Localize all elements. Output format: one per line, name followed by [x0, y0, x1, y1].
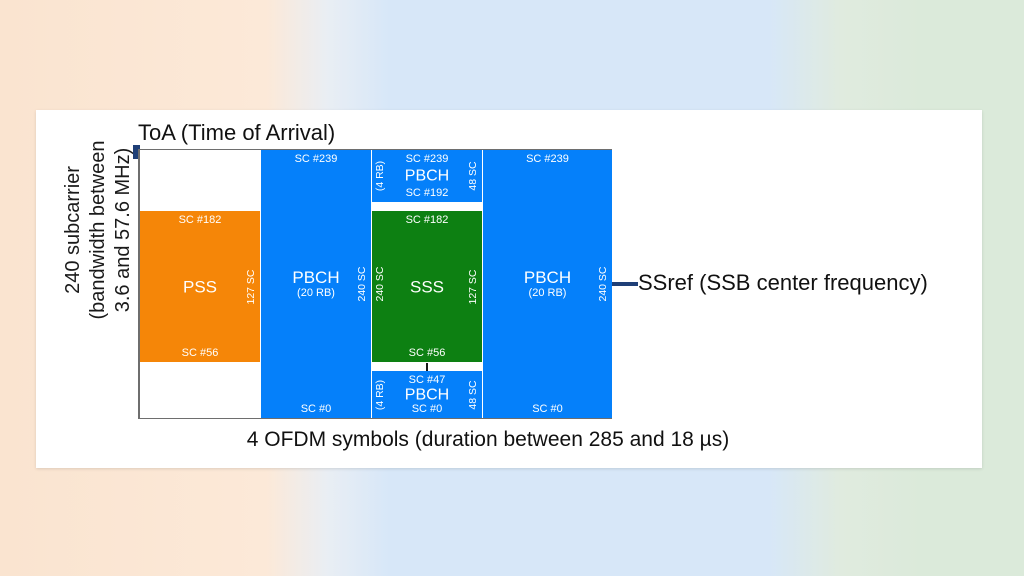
symbol-column-3: SC #239 PBCH (20 RB) 240 SC SC #0 — [483, 150, 612, 418]
pbch-sym1-bottom-sc-label: SC #0 — [261, 403, 371, 415]
empty-gap-upper-sym2 — [372, 202, 482, 211]
sym2-total-sc-count-label: 240 SC — [375, 266, 386, 301]
empty-gap-lower-sym2 — [372, 362, 482, 371]
y-axis-label-line-1: 240 subcarrier — [61, 166, 86, 294]
pbch-sym3-top-sc-label: SC #239 — [483, 153, 612, 165]
figure-card: 240 subcarrier (bandwidth between 3.6 an… — [36, 110, 982, 468]
pbch-lower-name-label: PBCH — [372, 385, 482, 404]
pbch-sym1-top-sc-label: SC #239 — [261, 153, 371, 165]
pbch-upper-top-sc-label: SC #239 — [372, 153, 482, 165]
pbch-lower-block-sym2: SC #47 PBCH (4 RB) 48 SC SC #0 — [372, 371, 482, 418]
pbch-sym3-sc-count-label: 240 SC — [598, 266, 609, 301]
pss-bottom-sc-label: SC #56 — [140, 347, 260, 359]
pss-name-label: PSS — [140, 277, 260, 296]
pss-sc-count-label: 127 SC — [246, 269, 257, 304]
toa-annotation-label: ToA (Time of Arrival) — [138, 120, 335, 146]
sss-sc-count-label: 127 SC — [468, 269, 479, 304]
empty-block-top-sym0 — [140, 150, 260, 211]
pbch-upper-block-sym2: SC #239 PBCH (4 RB) 48 SC SC #192 — [372, 150, 482, 202]
y-axis-label: 240 subcarrier (bandwidth between 3.6 an… — [56, 90, 140, 370]
pbch-sym1-sc-count-label: 240 SC — [357, 266, 368, 301]
symbol-column-2: SC #239 PBCH (4 RB) 48 SC SC #192 SC #18… — [372, 150, 482, 418]
pbch-sym1-name-text: PBCH — [292, 268, 339, 287]
pbch-upper-bottom-sc-label: SC #192 — [372, 187, 482, 199]
pbch-sym3-name-label: PBCH (20 RB) — [483, 268, 612, 300]
pbch-sym1-rb-label: (20 RB) — [261, 287, 371, 300]
pbch-sym3-bottom-sc-label: SC #0 — [483, 403, 612, 415]
pbch-block-sym3: SC #239 PBCH (20 RB) 240 SC SC #0 — [483, 150, 612, 418]
symbol-column-0: SC #182 PSS 127 SC SC #56 — [140, 150, 260, 418]
y-axis-label-line-2: (bandwidth between — [86, 141, 111, 320]
pbch-lower-bottom-sc-label: SC #0 — [372, 403, 482, 415]
sss-name-label: SSS — [372, 277, 482, 296]
empty-block-bottom-sym0 — [140, 362, 260, 418]
pbch-sym3-rb-label: (20 RB) — [483, 287, 612, 300]
pbch-sym1-name-label: PBCH (20 RB) — [261, 268, 371, 300]
ssref-annotation-label: SSref (SSB center frequency) — [638, 270, 928, 296]
sss-gap-tick-icon — [426, 363, 428, 371]
pbch-sym3-name-text: PBCH — [524, 268, 571, 287]
pbch-block-sym1: SC #239 PBCH (20 RB) 240 SC SC #0 — [261, 150, 371, 418]
sss-top-sc-label: SC #182 — [372, 214, 482, 226]
sss-bottom-sc-label: SC #56 — [372, 347, 482, 359]
pbch-upper-name-label: PBCH — [372, 167, 482, 186]
x-axis-label: 4 OFDM symbols (duration between 285 and… — [138, 428, 838, 452]
pss-top-sc-label: SC #182 — [140, 214, 260, 226]
symbol-column-1: SC #239 PBCH (20 RB) 240 SC SC #0 — [261, 150, 371, 418]
y-axis-label-line-3: 3.6 and 57.6 MHz) — [111, 148, 136, 313]
ssref-leader-line — [612, 282, 638, 286]
pss-block: SC #182 PSS 127 SC SC #56 — [140, 211, 260, 362]
resource-grid: SC #182 PSS 127 SC SC #56 SC #239 PBCH (… — [138, 149, 612, 419]
sss-block: SC #182 SSS 127 SC SC #56 — [372, 211, 482, 362]
